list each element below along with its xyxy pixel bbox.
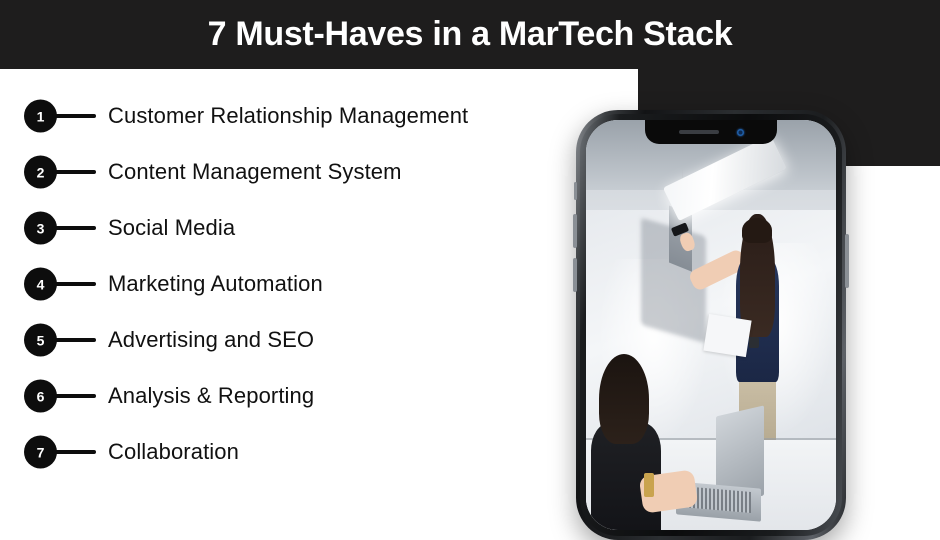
list-item[interactable]: 1 Customer Relationship Management <box>0 88 560 144</box>
connector-line <box>52 226 96 230</box>
volume-down-button[interactable] <box>573 258 577 292</box>
power-button[interactable] <box>845 234 849 288</box>
list-item[interactable]: 3 Social Media <box>0 200 560 256</box>
list-item[interactable]: 4 Marketing Automation <box>0 256 560 312</box>
screen-photo <box>586 120 836 530</box>
front-camera-icon <box>737 129 744 136</box>
paper-sheet <box>703 314 751 357</box>
silent-switch-button[interactable] <box>574 182 577 200</box>
phone-mockup <box>576 110 846 540</box>
list-item-label: Customer Relationship Management <box>108 103 468 129</box>
page-title: 7 Must-Haves in a MarTech Stack <box>0 0 940 69</box>
list-item-label: Collaboration <box>108 439 239 465</box>
seated-person-hair <box>599 354 649 444</box>
speaker-grille-icon <box>679 130 719 134</box>
list-item[interactable]: 7 Collaboration <box>0 424 560 480</box>
presenter-fringe <box>742 218 772 243</box>
list-item-label: Analysis & Reporting <box>108 383 314 409</box>
infographic-canvas: 7 Must-Haves in a MarTech Stack 1 Custom… <box>0 0 940 500</box>
list-item[interactable]: 2 Content Management System <box>0 144 560 200</box>
phone-screen <box>586 120 836 530</box>
connector-line <box>52 338 96 342</box>
list-item-label: Social Media <box>108 215 235 241</box>
bracelet <box>644 473 654 498</box>
connector-line <box>52 394 96 398</box>
connector-line <box>52 450 96 454</box>
wristwatch <box>749 337 759 348</box>
list-item[interactable]: 6 Analysis & Reporting <box>0 368 560 424</box>
list-item-label: Content Management System <box>108 159 402 185</box>
connector-line <box>52 282 96 286</box>
must-haves-list: 1 Customer Relationship Management 2 Con… <box>0 88 560 480</box>
list-item-label: Marketing Automation <box>108 271 323 297</box>
volume-up-button[interactable] <box>573 214 577 248</box>
list-item-label: Advertising and SEO <box>108 327 314 353</box>
phone-notch <box>645 120 777 144</box>
list-item[interactable]: 5 Advertising and SEO <box>0 312 560 368</box>
connector-line <box>52 114 96 118</box>
connector-line <box>52 170 96 174</box>
